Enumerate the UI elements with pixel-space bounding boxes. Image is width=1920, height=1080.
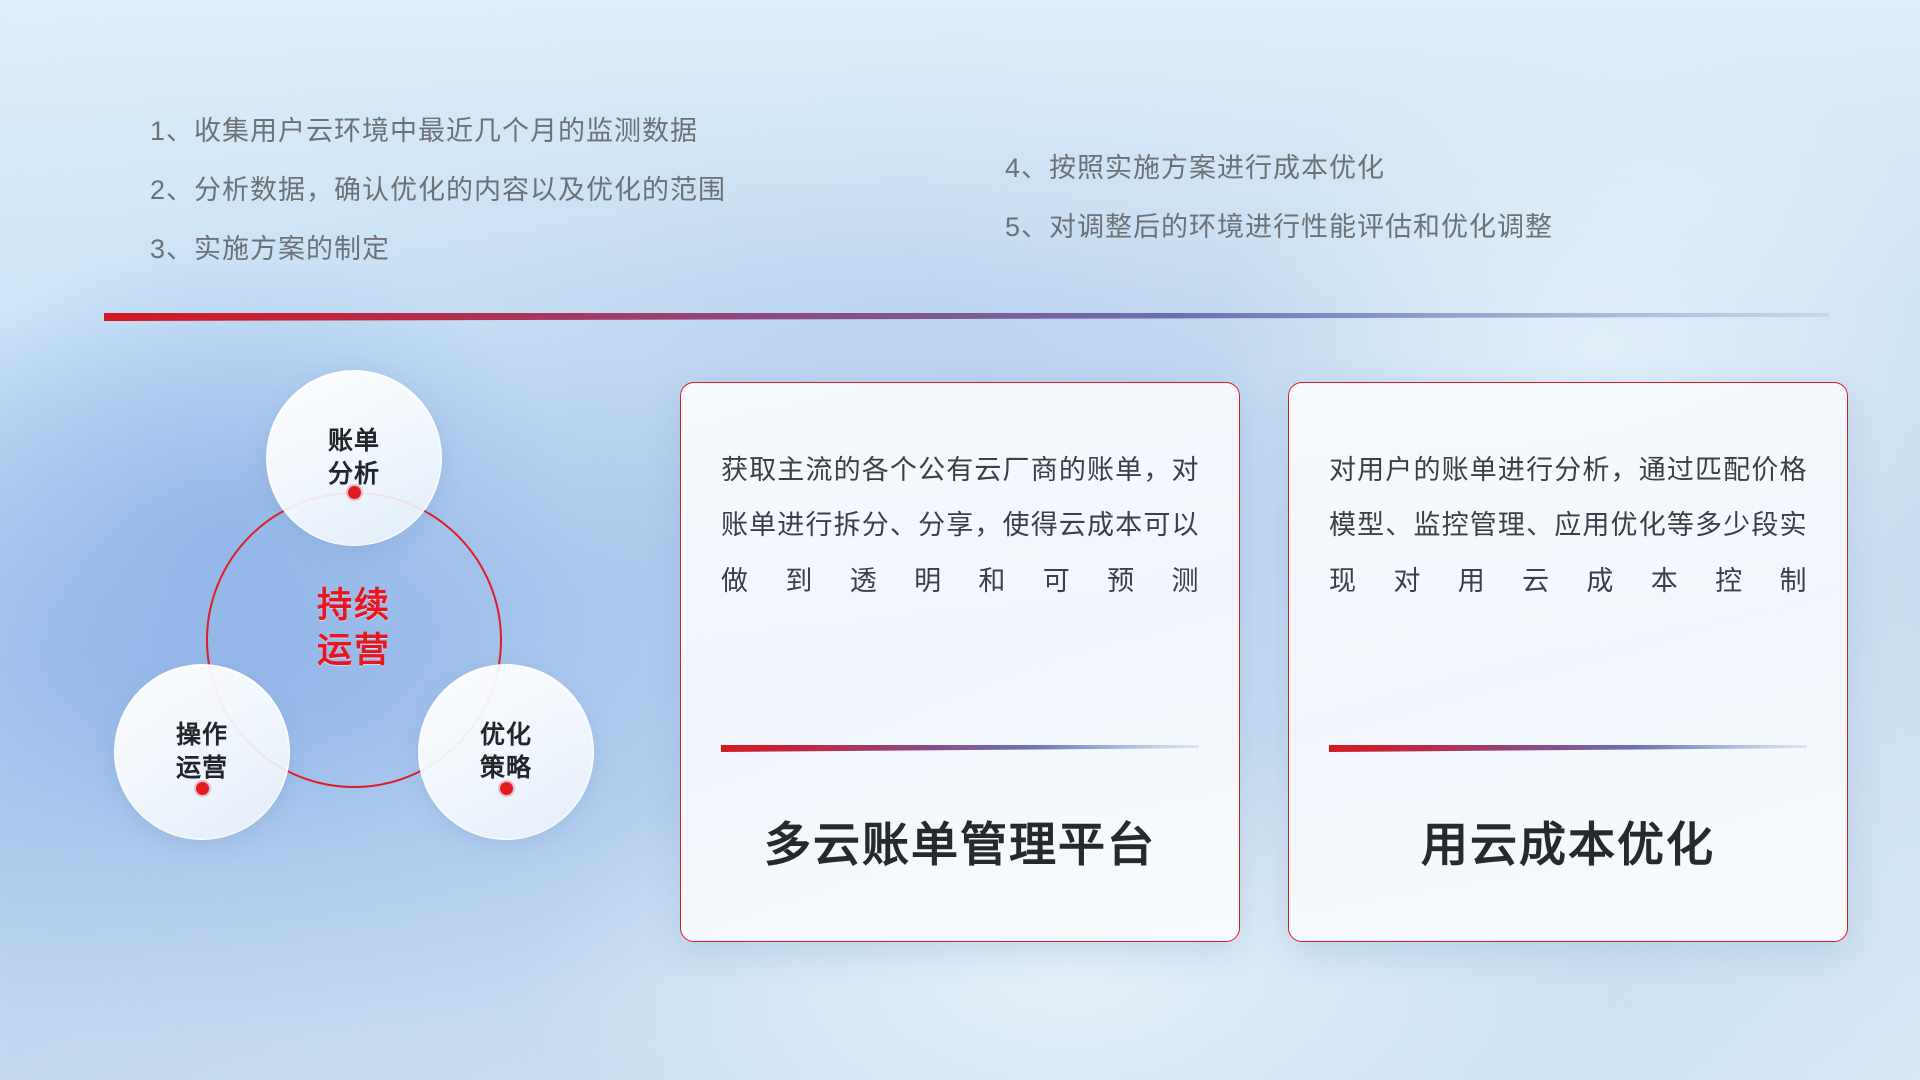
- card-two-title: 用云成本优化: [1329, 752, 1807, 941]
- venn-connector-dot-top: [348, 486, 361, 499]
- venn-connector-dot-bottom-left: [196, 782, 209, 795]
- process-step-3: 3、实施方案的制定: [150, 236, 726, 263]
- process-step-5: 5、对调整后的环境进行性能评估和优化调整: [1005, 214, 1553, 241]
- card-two-body: 对用户的账单进行分析，通过匹配价格模型、监控管理、应用优化等多少段实现对用云成本…: [1329, 443, 1807, 609]
- process-step-1: 1、收集用户云环境中最近几个月的监测数据: [150, 118, 726, 145]
- process-step-2: 2、分析数据，确认优化的内容以及优化的范围: [150, 177, 726, 204]
- process-steps-section: 1、收集用户云环境中最近几个月的监测数据 2、分析数据，确认优化的内容以及优化的…: [0, 0, 1920, 300]
- venn-node-billing-analysis[interactable]: 账单 分析: [266, 370, 442, 546]
- card-one-body: 获取主流的各个公有云厂商的账单，对账单进行拆分、分享，使得云成本可以做到透明和可…: [721, 443, 1199, 609]
- card-two-divider: [1329, 745, 1807, 752]
- venn-node-operation-ops-label: 操作 运营: [176, 719, 228, 786]
- card-one-divider: [721, 745, 1199, 752]
- process-steps-right-column: 4、按照实施方案进行成本优化 5、对调整后的环境进行性能评估和优化调整: [1005, 155, 1553, 273]
- venn-node-billing-analysis-label: 账单 分析: [328, 425, 380, 492]
- card-one-title: 多云账单管理平台: [721, 752, 1199, 941]
- process-step-4: 4、按照实施方案进行成本优化: [1005, 155, 1553, 182]
- continuous-operation-diagram: 账单 分析 操作 运营 优化 策略 持续 运营: [96, 352, 616, 912]
- section-divider-rule: [104, 313, 1829, 321]
- venn-node-operation-ops[interactable]: 操作 运营: [114, 664, 290, 840]
- venn-center-label: 持续 运营: [206, 584, 502, 674]
- venn-node-optimization-policy-label: 优化 策略: [480, 719, 532, 786]
- card-multi-cloud-billing-platform[interactable]: 获取主流的各个公有云厂商的账单，对账单进行拆分、分享，使得云成本可以做到透明和可…: [680, 382, 1240, 942]
- venn-node-optimization-policy[interactable]: 优化 策略: [418, 664, 594, 840]
- card-cloud-cost-optimization[interactable]: 对用户的账单进行分析，通过匹配价格模型、监控管理、应用优化等多少段实现对用云成本…: [1288, 382, 1848, 942]
- process-steps-left-column: 1、收集用户云环境中最近几个月的监测数据 2、分析数据，确认优化的内容以及优化的…: [150, 118, 726, 295]
- venn-connector-dot-bottom-right: [500, 782, 513, 795]
